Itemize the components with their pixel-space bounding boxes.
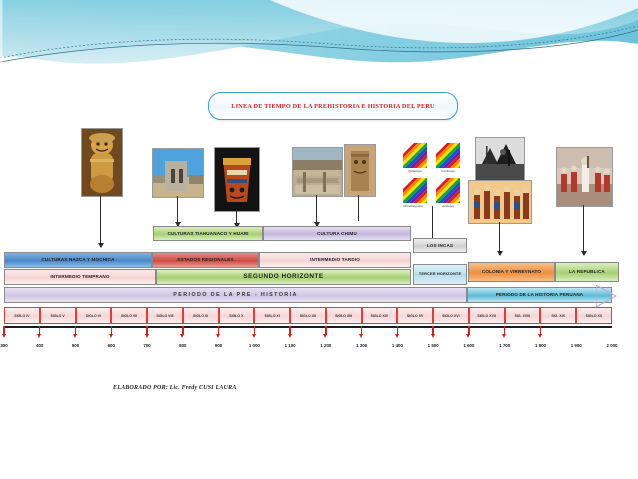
century-cell[interactable]: SIGLO IX <box>183 307 219 324</box>
century-label: SIGLO XV <box>407 314 424 318</box>
year-tick <box>75 326 76 335</box>
century-label: SIGLO VIII <box>156 314 173 318</box>
thumbnail-conquista-engraving[interactable] <box>475 137 525 181</box>
year-tick <box>540 326 541 335</box>
thumbnail-flag-qollasuyu[interactable] <box>403 143 427 168</box>
year-label: 1 300 <box>356 343 367 348</box>
century-cell[interactable]: SIGLO X <box>219 307 255 324</box>
year-tick-container <box>0 326 638 358</box>
century-label: SIGLO V <box>51 314 65 318</box>
century-label: SIGLO XVI <box>442 314 460 318</box>
year-tick <box>504 326 505 335</box>
century-cell[interactable]: SIGLO VIII <box>147 307 183 324</box>
page-title: LINEA DE TIEMPO DE LA PREHISTORIA E HIST… <box>231 103 435 110</box>
century-label: SIGLO XI <box>265 314 280 318</box>
leader-line-republica <box>583 205 584 255</box>
year-tick <box>218 326 219 335</box>
leader-line-chimu-idol <box>358 195 359 221</box>
year-tick <box>468 326 469 335</box>
leader-line-colonia <box>499 222 500 255</box>
year-label: 1 000 <box>249 343 260 348</box>
year-tick <box>289 326 290 335</box>
bar-label: CULTURAS NAZCA Y MOCHICA <box>41 257 114 262</box>
leader-line-tiahuanaco <box>177 196 178 226</box>
century-label: SIGLO XVII <box>477 314 495 318</box>
year-tick <box>3 326 4 335</box>
year-label: 800 <box>179 343 186 348</box>
bar-culturas-tiahuanaco-huari[interactable]: CULTURAS TIAHUANACO Y HUARI <box>153 226 263 241</box>
bar-label: PERIODO DE LA PRE - HISTORIA <box>173 292 298 298</box>
year-tick <box>111 326 112 335</box>
century-cell[interactable]: SIGLO XVII <box>469 307 505 324</box>
century-cell[interactable]: SIGLO V <box>40 307 76 324</box>
year-label: 400 <box>36 343 43 348</box>
bar-estados-regionales[interactable]: ESTADOS REGIONALES <box>152 252 259 268</box>
bar-colonia-virreynato[interactable]: COLONIA Y VIRREYNATO <box>468 262 555 282</box>
bar-culturas-nazca-mochica[interactable]: CULTURAS NAZCA Y MOCHICA <box>4 252 152 268</box>
century-label: SIGLO XII <box>300 314 316 318</box>
year-tick <box>361 326 362 335</box>
century-label: SIGLO XIII <box>335 314 352 318</box>
century-label: SIGLO IV <box>14 314 29 318</box>
century-cell[interactable]: SIGLO XVI <box>433 307 469 324</box>
thumbnail-independencia-painting[interactable] <box>556 147 613 207</box>
bar-tercer-horizonte[interactable]: TERCER HORIZONTE <box>413 264 467 285</box>
thumbnail-chanchan-chimu-ruins[interactable] <box>292 147 343 197</box>
slide-header-decoration <box>0 0 638 92</box>
year-label: 700 <box>143 343 150 348</box>
thumbnail-tiahuanaco-ruins[interactable] <box>152 148 204 198</box>
bar-label: COLONIA Y VIRREYNATO <box>482 269 541 274</box>
bar-label: INTERMEDIO TEMPRANO <box>50 274 109 279</box>
year-label: 1 200 <box>320 343 331 348</box>
thumbnail-wari-ceramic-vessel[interactable] <box>214 147 260 212</box>
thumbnail-chimu-wooden-idol[interactable] <box>344 144 376 197</box>
year-tick <box>325 326 326 335</box>
year-label: 600 <box>108 343 115 348</box>
century-cell[interactable]: SIGLO XIII <box>326 307 362 324</box>
bar-label: CULTURAS TIAHUANACO Y HUARI <box>167 231 248 236</box>
flag-label-qollasuyu: Qollasuyu <box>400 169 430 173</box>
bar-intermedio-temprano[interactable]: INTERMEDIO TEMPRANO <box>4 269 156 285</box>
bar-label: PERIODO DE LA HISTORIA PERUANA <box>496 292 584 297</box>
year-label: 1 600 <box>463 343 474 348</box>
year-tick <box>432 326 433 335</box>
bar-label: LOS INCAS <box>427 243 453 248</box>
leader-line-incas <box>432 206 433 241</box>
century-label: SIGLO XX <box>586 314 603 318</box>
author-credit: ELABORADO POR: Lic. Fredy CUSI LAURA <box>113 385 237 391</box>
year-label: 1 500 <box>428 343 439 348</box>
flag-label-cuntisuyu: Cuntisuyu <box>433 169 463 173</box>
year-tick <box>182 326 183 335</box>
year-label: 900 <box>215 343 222 348</box>
bar-label: INTERMEDIO TARDIO <box>310 257 360 262</box>
century-label: SIGLO VI <box>86 314 101 318</box>
leader-line-wari <box>236 210 237 227</box>
bar-la-republica[interactable]: LA REPUBLICA <box>555 262 619 282</box>
century-cell[interactable]: SIGLO IV <box>4 307 40 324</box>
century-label: SIG. XIX <box>551 314 565 318</box>
century-label: SIGLO XIV <box>371 314 389 318</box>
year-label: 1 100 <box>285 343 296 348</box>
century-label: SIGLO X <box>229 314 243 318</box>
slide-title-box: LINEA DE TIEMPO DE LA PREHISTORIA E HIST… <box>208 92 458 120</box>
year-label: 1 700 <box>499 343 510 348</box>
year-tick <box>254 326 255 335</box>
year-tick <box>146 326 147 335</box>
bar-periodo-prehistoria[interactable]: PERIODO DE LA PRE - HISTORIA <box>4 287 467 303</box>
century-cell[interactable]: SIGLO XIV <box>362 307 398 324</box>
leader-line-nazca <box>100 195 101 247</box>
century-cell[interactable]: SIGLO XV <box>397 307 433 324</box>
century-cell[interactable]: SIG. XVIII <box>505 307 541 324</box>
bar-label: LA REPUBLICA <box>569 269 605 274</box>
year-tick <box>39 326 40 335</box>
century-label: SIG. XVIII <box>515 314 531 318</box>
century-label: SIGLO VII <box>121 314 137 318</box>
year-tick <box>397 326 398 335</box>
bar-periodo-historia-peruana[interactable]: PERIODO DE LA HISTORIA PERUANA <box>467 287 612 303</box>
century-cell[interactable]: SIGLO VII <box>111 307 147 324</box>
thumbnail-flag-cuntisuyu[interactable] <box>436 143 460 168</box>
year-label: 1 400 <box>392 343 403 348</box>
flag-label-antisuyu: Antisuyu <box>433 204 463 208</box>
bar-cultura-chimu[interactable]: CULTURA CHIMU <box>263 226 411 241</box>
thumbnail-flag-chinchaysuyu[interactable] <box>403 178 427 203</box>
bar-label: CULTURA CHIMU <box>317 231 357 236</box>
century-cell[interactable]: SIGLO XI <box>254 307 290 324</box>
leader-line-chanchan <box>316 195 317 226</box>
bar-los-incas[interactable]: LOS INCAS <box>413 238 467 253</box>
year-label: 500 <box>72 343 79 348</box>
year-label: 300 <box>0 343 7 348</box>
century-label: SIGLO IX <box>193 314 208 318</box>
century-cell[interactable]: SIGLO XII <box>290 307 326 324</box>
year-label: 2 000 <box>607 343 618 348</box>
century-cell[interactable]: SIG. XIX <box>540 307 576 324</box>
bar-label: ESTADOS REGIONALES <box>177 257 233 262</box>
century-strip: SIGLO IVSIGLO VSIGLO VISIGLO VIISIGLO VI… <box>4 307 612 324</box>
flag-label-chinchaysuyu: Chinchaysuyu <box>398 204 428 208</box>
century-cell[interactable]: SIGLO VI <box>76 307 112 324</box>
thumbnail-flag-antisuyu[interactable] <box>436 178 460 203</box>
thumbnail-colonia-painting[interactable] <box>468 180 532 224</box>
bar-label: TERCER HORIZONTE <box>419 272 461 276</box>
bar-intermedio-tardio[interactable]: INTERMEDIO TARDIO <box>259 252 411 268</box>
year-label: 1 800 <box>535 343 546 348</box>
century-cell[interactable]: SIGLO XX <box>576 307 612 324</box>
bar-label: SEGUNDO HORIZONTE <box>243 273 323 280</box>
thumbnail-huaco-nazca-mochica[interactable] <box>81 128 123 197</box>
year-label: 1 900 <box>571 343 582 348</box>
bar-segundo-horizonte[interactable]: SEGUNDO HORIZONTE <box>156 269 411 285</box>
